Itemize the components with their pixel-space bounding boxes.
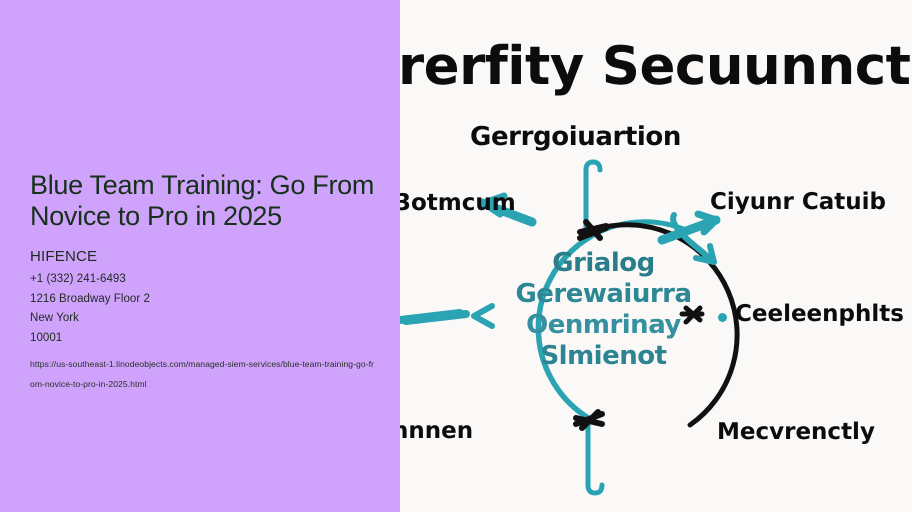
source-url-link[interactable]: https://us-southeast-1.linodeobjects.com… [30, 354, 375, 394]
diagram-center-text: Grialog Gerewaiurra Oenmrinay Slmienot [496, 248, 711, 372]
left-panel-content: Blue Team Training: Go From Novice to Pr… [30, 170, 378, 394]
diagram-heading: rerfity Secuunnct [400, 36, 911, 97]
arrow-down-icon [588, 425, 602, 493]
phone-number[interactable]: +1 (332) 241-6493 [30, 270, 378, 290]
card-root: Blue Team Training: Go From Novice to Pr… [0, 0, 912, 512]
contact-block: +1 (332) 241-6493 1216 Broadway Floor 2 … [30, 270, 378, 348]
street-address: 1216 Broadway Floor 2 [30, 290, 378, 310]
center-text-line-4: Slmienot [496, 341, 711, 372]
diagram-label-right-bottom: Mecvrenctly [717, 419, 875, 445]
center-text-line-2: Gerewaiurra [496, 279, 711, 310]
diagram-label-right-top: Ciyunr Catuib [710, 189, 886, 215]
left-info-panel: Blue Team Training: Go From Novice to Pr… [0, 0, 400, 512]
brand-name: HIFENCE [30, 248, 378, 266]
center-text-line-3: Oenmrinay [496, 310, 711, 341]
arrow-up-icon [586, 162, 600, 230]
page-title: Blue Team Training: Go From Novice to Pr… [30, 170, 378, 232]
diagram-label-left-bottom: nnnen [400, 418, 473, 444]
city-name: New York [30, 309, 378, 329]
diagram-label-left-top: 3otmcum [400, 190, 516, 216]
postal-code: 10001 [30, 329, 378, 349]
diagram-label-right-mid: Ceeleenphlts [735, 301, 904, 327]
arrow-right-into-center-icon [400, 306, 492, 326]
bullet-dot-icon [718, 313, 727, 322]
diagram-panel: rerfity Secuunnct Gerrgoiuartion 3otmcum… [400, 0, 912, 512]
center-text-line-1: Grialog [496, 248, 711, 279]
diagram-subheading: Gerrgoiuartion [470, 122, 681, 152]
